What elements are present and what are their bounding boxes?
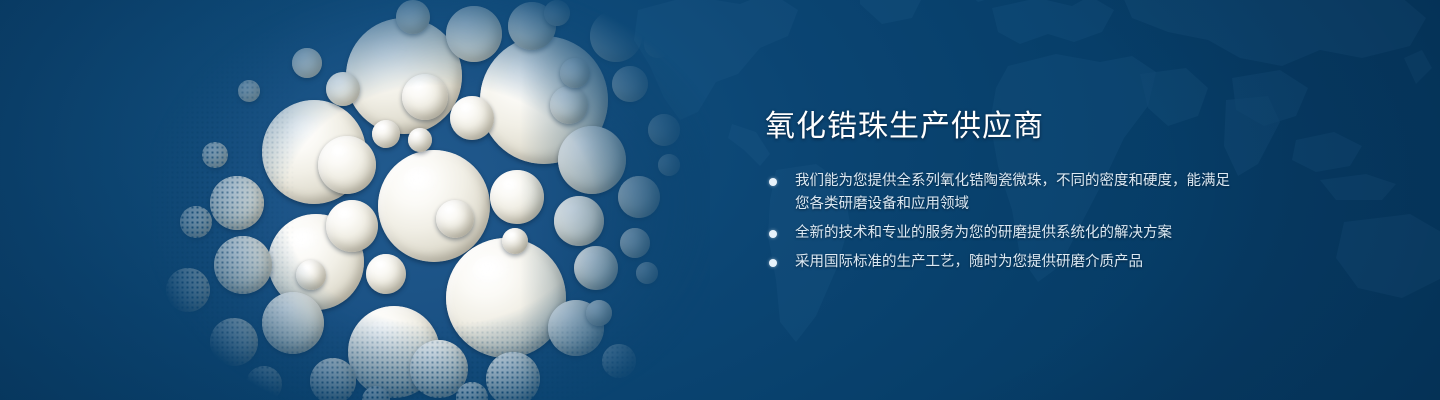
zirconia-bead-cluster	[150, 0, 710, 400]
product-photo	[150, 0, 710, 400]
bullet-text-1: 我们能为您提供全系列氧化锆陶瓷微珠，不同的密度和硬度，能满足您各类研磨设备和应用…	[795, 170, 1237, 216]
hero-banner: 氧化锆珠生产供应商 我们能为您提供全系列氧化锆陶瓷微珠，不同的密度和硬度，能满足…	[0, 0, 1440, 400]
bullet-dot-icon	[769, 230, 777, 238]
bullet-dot-icon	[769, 259, 777, 267]
bullet-dot-icon	[769, 178, 777, 186]
bullet-item-3: 采用国际标准的生产工艺，随时为您提供研磨介质产品	[767, 251, 1237, 274]
bullet-item-1: 我们能为您提供全系列氧化锆陶瓷微珠，不同的密度和硬度，能满足您各类研磨设备和应用…	[767, 170, 1237, 216]
bullet-item-2: 全新的技术和专业的服务为您的研磨提供系统化的解决方案	[767, 222, 1237, 245]
banner-headline: 氧化锆珠生产供应商	[765, 110, 1044, 144]
bullet-text-3: 采用国际标准的生产工艺，随时为您提供研磨介质产品	[795, 251, 1237, 274]
bullet-text-2: 全新的技术和专业的服务为您的研磨提供系统化的解决方案	[795, 222, 1237, 245]
banner-bullet-list: 我们能为您提供全系列氧化锆陶瓷微珠，不同的密度和硬度，能满足您各类研磨设备和应用…	[767, 170, 1237, 280]
banner-content: 氧化锆珠生产供应商 我们能为您提供全系列氧化锆陶瓷微珠，不同的密度和硬度，能满足…	[765, 0, 1325, 400]
